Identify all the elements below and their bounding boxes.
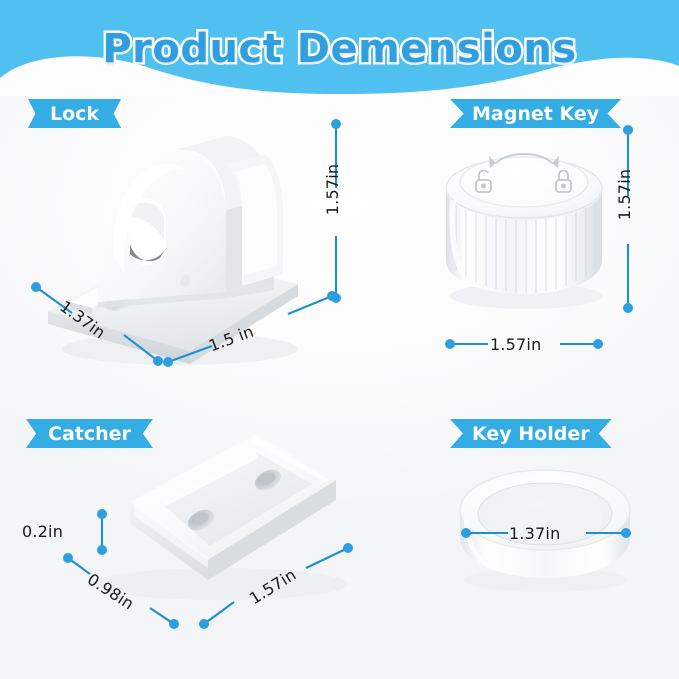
page-title-wrap: Product Demensions (0, 26, 679, 72)
section-key-holder: 1.37in (420, 410, 679, 679)
catcher-thickness-label: 0.2in (22, 522, 63, 541)
magnet-key-illustration (434, 118, 614, 318)
lock-height-label: 1.57in (323, 164, 342, 215)
key-holder-diameter-label: 1.37in (509, 524, 560, 543)
section-magnet-key: 1.57in 1.57in (420, 96, 679, 396)
section-catcher: 0.2in 0.98in 1.57in (0, 410, 420, 679)
lock-illustration (30, 106, 320, 376)
infographic-page: Product Demensions Lock Magnet Key Catch… (0, 0, 679, 679)
page-title: Product Demensions (102, 26, 576, 72)
section-lock: 1.57in 1.37in 1.5 in (0, 96, 400, 396)
magnet-key-height-label: 1.57in (615, 169, 634, 220)
magnet-key-diameter-label: 1.57in (490, 335, 541, 354)
